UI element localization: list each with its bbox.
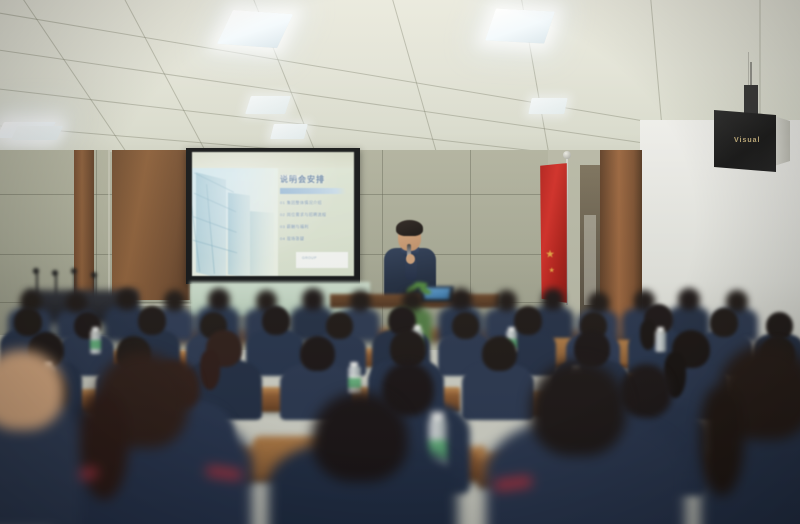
audience-foreground [0, 0, 800, 524]
auditorium-photo: 说明会安排 9:30-9:35 01 集团整体情况介绍 02 岗位需求与招聘流程… [0, 0, 800, 524]
